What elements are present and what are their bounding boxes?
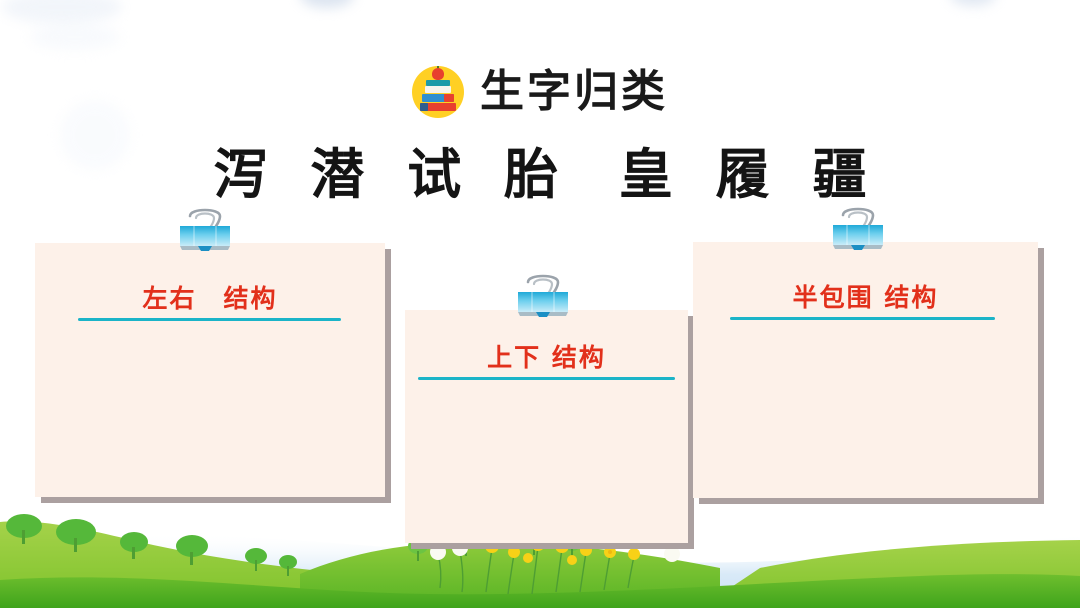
character-item[interactable]: 履 bbox=[716, 142, 770, 207]
character-item[interactable]: 潜 bbox=[310, 142, 364, 207]
card-label: 左右 结构 bbox=[35, 279, 385, 315]
cloud-icon bbox=[2, 0, 122, 24]
character-list: 泻 潜 试 胎 皇 履 疆 bbox=[0, 142, 1080, 207]
cloud-icon bbox=[300, 0, 354, 8]
cloud-icon bbox=[30, 24, 120, 50]
card-underline bbox=[418, 377, 675, 380]
structure-card-semi-enclosed[interactable]: 半包围 结构 bbox=[693, 242, 1038, 498]
structure-card-left-right[interactable]: 左右 结构 bbox=[35, 243, 385, 497]
cloud-icon bbox=[950, 0, 996, 6]
slide-canvas: 生字归类 泻 潜 试 胎 皇 履 疆 左右 结构 上下 结构 半包围 结构 bbox=[0, 0, 1080, 608]
character-item[interactable]: 皇 bbox=[619, 142, 673, 207]
character-item[interactable]: 试 bbox=[407, 142, 461, 207]
card-label: 半包围 结构 bbox=[693, 278, 1038, 314]
character-item[interactable]: 疆 bbox=[812, 142, 866, 207]
page-title: 生字归类 bbox=[480, 70, 668, 114]
character-item[interactable]: 泻 bbox=[214, 142, 268, 207]
card-label: 上下 结构 bbox=[405, 338, 688, 374]
structure-card-top-bottom[interactable]: 上下 结构 bbox=[405, 310, 688, 543]
character-item[interactable]: 胎 bbox=[504, 142, 558, 207]
stacked-books-apple-icon bbox=[412, 66, 464, 118]
page-title-row: 生字归类 bbox=[0, 66, 1080, 118]
card-underline bbox=[730, 317, 995, 320]
card-underline bbox=[78, 318, 341, 321]
